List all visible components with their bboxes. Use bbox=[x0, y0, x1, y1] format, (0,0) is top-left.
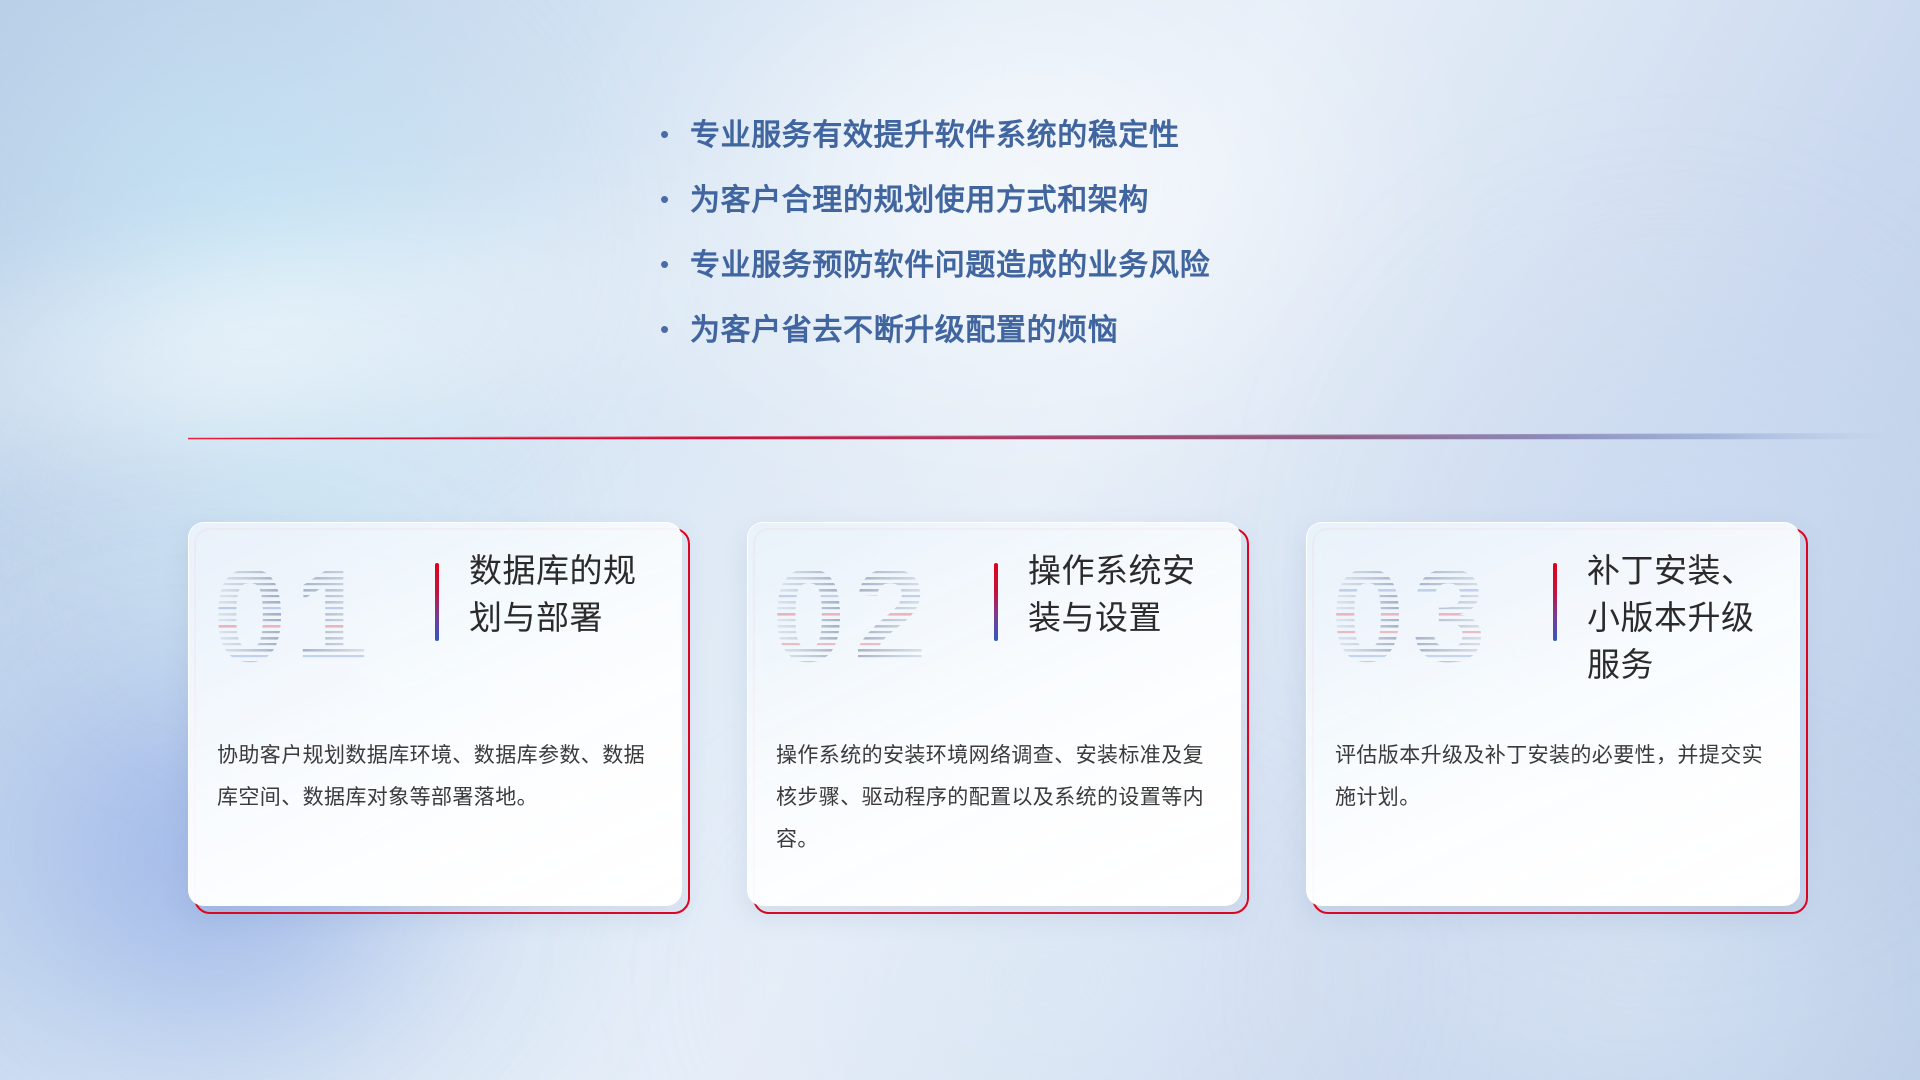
service-card[interactable]: 02 bbox=[747, 522, 1249, 914]
list-item: • 专业服务预防软件问题造成的业务风险 bbox=[660, 240, 1480, 305]
card-number-scanline-graphic: 03 bbox=[1329, 545, 1519, 685]
service-card[interactable]: 03 bbox=[1306, 522, 1808, 914]
slide-canvas: • 专业服务有效提升软件系统的稳定性 • 为客户合理的规划使用方式和架构 • 专… bbox=[0, 0, 1920, 1080]
card-description: 评估版本升级及补丁安装的必要性，并提交实施计划。 bbox=[1335, 735, 1771, 819]
card-title: 数据库的规划与部署 bbox=[469, 547, 665, 641]
card-panel: 02 bbox=[747, 522, 1241, 906]
card-title-accent-bar bbox=[994, 563, 998, 641]
scanline-number-03-icon: 03 bbox=[1329, 545, 1519, 685]
card-number-scanline-graphic: 02 bbox=[770, 545, 960, 685]
card-title-accent-bar bbox=[435, 563, 439, 641]
card-panel: 03 bbox=[1306, 522, 1800, 906]
card-description: 操作系统的安装环境网络调查、安装标准及复核步骤、驱动程序的配置以及系统的设置等内… bbox=[776, 735, 1212, 861]
bullet-marker-icon: • bbox=[660, 316, 690, 342]
service-card[interactable]: 01 bbox=[188, 522, 690, 914]
list-item: • 为客户合理的规划使用方式和架构 bbox=[660, 175, 1480, 240]
list-item: • 为客户省去不断升级配置的烦恼 bbox=[660, 305, 1480, 370]
card-panel: 01 bbox=[188, 522, 682, 906]
service-card-row: 01 bbox=[188, 522, 1808, 922]
scanline-number-01-icon: 01 bbox=[211, 545, 401, 685]
background-glow-cyan-top-left bbox=[0, 0, 660, 580]
card-header: 02 bbox=[748, 523, 1240, 723]
bullet-label: 专业服务有效提升软件系统的稳定性 bbox=[690, 110, 1180, 154]
scanline-number-02-icon: 02 bbox=[770, 545, 960, 685]
card-number-scanline-graphic: 01 bbox=[211, 545, 401, 685]
bullet-marker-icon: • bbox=[660, 251, 690, 277]
bullet-label: 为客户合理的规划使用方式和架构 bbox=[690, 175, 1149, 219]
card-title: 操作系统安装与设置 bbox=[1028, 547, 1224, 641]
bullet-marker-icon: • bbox=[660, 186, 690, 212]
list-item: • 专业服务有效提升软件系统的稳定性 bbox=[660, 110, 1480, 175]
card-title-accent-bar bbox=[1553, 563, 1557, 641]
benefit-bullet-list: • 专业服务有效提升软件系统的稳定性 • 为客户合理的规划使用方式和架构 • 专… bbox=[660, 110, 1480, 370]
bullet-label: 为客户省去不断升级配置的烦恼 bbox=[690, 305, 1118, 349]
card-description: 协助客户规划数据库环境、数据库参数、数据库空间、数据库对象等部署落地。 bbox=[217, 735, 653, 819]
section-divider bbox=[188, 428, 1888, 444]
bullet-marker-icon: • bbox=[660, 121, 690, 147]
card-title: 补丁安装、小版本升级服务 bbox=[1587, 547, 1783, 688]
card-header: 03 bbox=[1307, 523, 1799, 723]
card-header: 01 bbox=[189, 523, 681, 723]
bullet-label: 专业服务预防软件问题造成的业务风险 bbox=[690, 240, 1210, 284]
